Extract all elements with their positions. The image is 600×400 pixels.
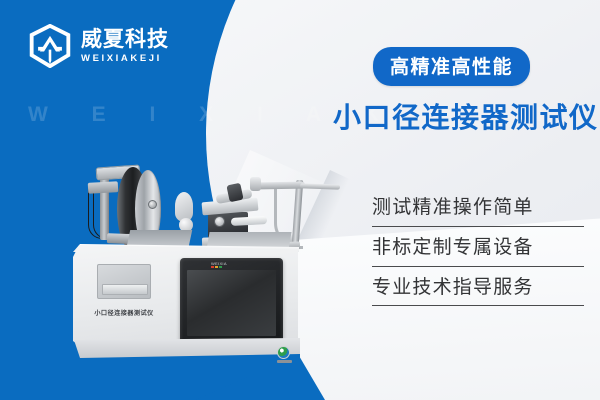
machine-nameplate: 小口径连接器测试仪 bbox=[76, 308, 172, 317]
status-leds bbox=[211, 266, 222, 268]
cabinet-base bbox=[74, 338, 300, 358]
divider bbox=[372, 226, 584, 227]
divider bbox=[372, 305, 584, 306]
emblem-caption bbox=[277, 360, 292, 363]
led-amber bbox=[215, 266, 218, 268]
led-green bbox=[219, 266, 222, 268]
hexagon-shield-mountain-icon bbox=[28, 24, 72, 68]
mid-arm bbox=[88, 181, 119, 194]
product-photo: 小口径连接器测试仪 WEIXIA bbox=[60, 160, 310, 375]
brand-name-cn: 威夏科技 bbox=[81, 29, 169, 50]
crank-shaft bbox=[300, 183, 340, 189]
specimen-tube bbox=[231, 216, 267, 226]
gauge-dial bbox=[214, 216, 225, 227]
hmi-touchscreen: WEIXIA bbox=[180, 258, 283, 347]
emblem-ring bbox=[277, 346, 290, 359]
feature-label: 非标定制专属设备 bbox=[372, 236, 584, 260]
brand-wordmark: 威夏科技 WEIXIAKEJI bbox=[81, 29, 169, 64]
feature-list: 测试精准操作简单 非标定制专属设备 专业技术指导服务 bbox=[372, 196, 584, 315]
list-item: 测试精准操作简单 bbox=[372, 196, 584, 227]
disc-hub bbox=[148, 200, 157, 209]
list-item: 非标定制专属设备 bbox=[372, 236, 584, 267]
eco-recycle-emblem-icon bbox=[277, 346, 292, 363]
clamp-head bbox=[226, 183, 243, 203]
crank-arm bbox=[257, 182, 305, 190]
list-item: 专业技术指导服务 bbox=[372, 276, 584, 307]
feature-label: 测试精准操作简单 bbox=[372, 196, 584, 220]
document-holder bbox=[97, 264, 151, 299]
product-banner: 威夏科技 WEIXIAKEJI W E I X I A K E J I 高精准高… bbox=[0, 0, 600, 400]
divider bbox=[372, 266, 584, 267]
crank-knob bbox=[250, 177, 261, 191]
feature-label: 专业技术指导服务 bbox=[372, 276, 584, 300]
brand-name-en: WEIXIAKEJI bbox=[81, 54, 169, 64]
led-red bbox=[211, 266, 214, 268]
screen-display-area bbox=[187, 270, 276, 336]
page-title: 小口径连接器测试仪 bbox=[333, 96, 599, 136]
brand-logo: 威夏科技 WEIXIAKEJI bbox=[28, 24, 169, 68]
highlight-badge: 高精准高性能 bbox=[373, 47, 530, 86]
